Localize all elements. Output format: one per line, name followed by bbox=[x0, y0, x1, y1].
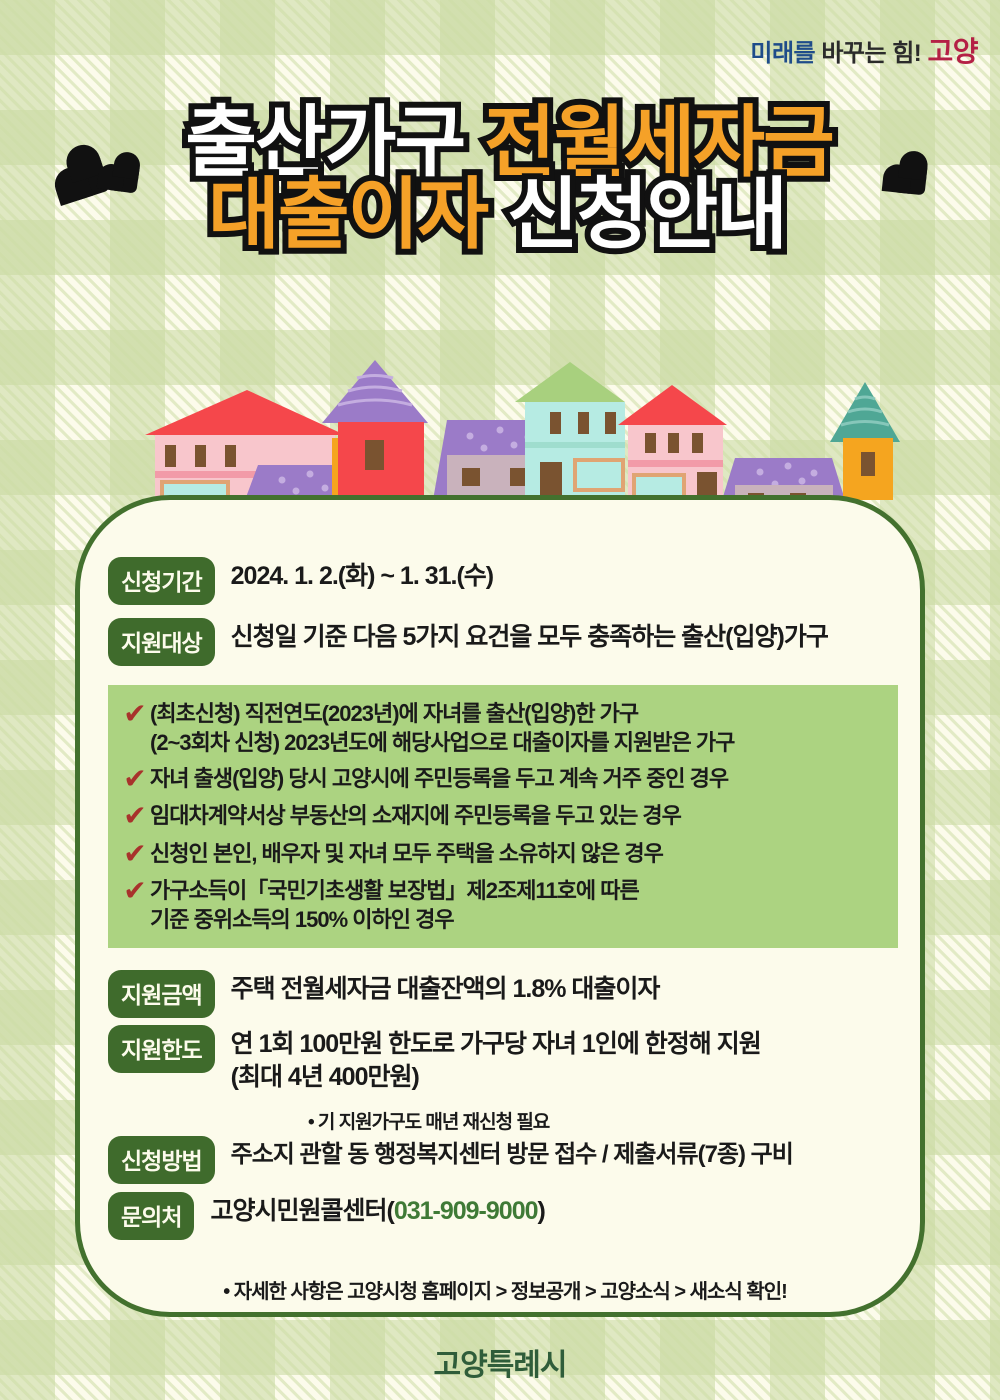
label-eligibility: 지원대상 bbox=[108, 618, 215, 666]
value-support-amount: 주택 전월세자금 대출잔액의 1.8% 대출이자 bbox=[231, 970, 660, 1006]
slogan-brand: 고양 bbox=[927, 36, 978, 67]
checklist-text: 임대차계약서상 부동산의 소재지에 주민등록을 두고 있는 경우 bbox=[150, 801, 681, 830]
checklist-item: ✔ (최초신청) 직전연도(2023년)에 자녀를 출산(입양)한 가구 (2~… bbox=[120, 699, 898, 757]
contact-phone[interactable]: 031-909-9000 bbox=[394, 1197, 538, 1225]
poster-title: 출산가구 전월세자금 대출이자 신청안내 bbox=[0, 104, 1000, 253]
card-footnote: • 자세한 사항은 고양시청 홈페이지 > 정보공개 > 고양소식 > 새소식 … bbox=[80, 1275, 930, 1304]
eligibility-checklist-box: ✔ (최초신청) 직전연도(2023년)에 자녀를 출산(입양)한 가구 (2~… bbox=[108, 685, 898, 948]
check-icon: ✔ bbox=[120, 764, 150, 794]
checklist-item: ✔ 자녀 출생(입양) 당시 고양시에 주민등록을 두고 계속 거주 중인 경우 bbox=[120, 764, 898, 794]
checklist-text: (최초신청) 직전연도(2023년)에 자녀를 출산(입양)한 가구 bbox=[150, 701, 638, 726]
title-line2-white: 신청안내 bbox=[507, 176, 786, 252]
label-application-method: 신청방법 bbox=[108, 1136, 215, 1184]
value-eligibility: 신청일 기준 다음 5가지 요건을 모두 충족하는 출산(입양)가구 bbox=[231, 618, 828, 654]
title-line1-white: 출산가구 bbox=[185, 104, 464, 180]
check-icon: ✔ bbox=[120, 699, 150, 729]
row-eligibility: 지원대상 신청일 기준 다음 5가지 요건을 모두 충족하는 출산(입양)가구 bbox=[108, 618, 828, 666]
check-icon: ✔ bbox=[120, 876, 150, 906]
checklist-item: ✔ 가구소득이「국민기초생활 보장법」제2조제11호에 따른 기준 중위소득의 … bbox=[120, 876, 898, 934]
house-roof bbox=[145, 390, 345, 435]
row-support-limit: 지원한도 연 1회 100만원 한도로 가구당 자녀 1인에 한정해 지원 (최… bbox=[108, 1025, 761, 1094]
village-illustration bbox=[0, 360, 1000, 500]
title-line1-orange: 전월세자금 bbox=[484, 104, 833, 180]
value-support-limit-line2: (최대 4년 400만원) bbox=[231, 1063, 419, 1091]
footer-brand: 고양특례시 bbox=[0, 1340, 1000, 1384]
checklist-text: 신청인 본인, 배우자 및 자녀 모두 주택을 소유하지 않은 경우 bbox=[150, 839, 663, 868]
row-contact: 문의처 고양시민원콜센터(031-909-9000) bbox=[108, 1192, 545, 1240]
checklist-item: ✔ 임대차계약서상 부동산의 소재지에 주민등록을 두고 있는 경우 bbox=[120, 801, 898, 831]
support-limit-note: • 기 지원가구도 매년 재신청 필요 bbox=[308, 1107, 549, 1134]
contact-name: 고양시민원콜센터( bbox=[210, 1197, 393, 1225]
checklist-text: 가구소득이「국민기초생활 보장법」제2조제11호에 따른 bbox=[150, 878, 639, 903]
info-card: 신청기간 2024. 1. 2.(화) ~ 1. 31.(수) 지원대상 신청일… bbox=[75, 495, 925, 1317]
row-support-amount: 지원금액 주택 전월세자금 대출잔액의 1.8% 대출이자 bbox=[108, 970, 659, 1018]
row-application-method: 신청방법 주소지 관할 동 행정복지센터 방문 접수 / 제출서류(7종) 구비 bbox=[108, 1136, 793, 1184]
label-application-period: 신청기간 bbox=[108, 557, 215, 605]
value-application-method: 주소지 관할 동 행정복지센터 방문 접수 / 제출서류(7종) 구비 bbox=[231, 1136, 793, 1171]
label-support-amount: 지원금액 bbox=[108, 970, 215, 1018]
check-icon: ✔ bbox=[120, 801, 150, 831]
value-contact: 고양시민원콜센터(031-909-9000) bbox=[210, 1192, 544, 1228]
slogan-part2: 바꾸는 힘! bbox=[821, 40, 921, 67]
village-svg bbox=[0, 360, 1000, 500]
slogan-part1: 미래를 bbox=[750, 40, 815, 67]
label-contact: 문의처 bbox=[108, 1192, 194, 1240]
value-support-limit-line1: 연 1회 100만원 한도로 가구당 자녀 1인에 한정해 지원 bbox=[231, 1030, 761, 1058]
label-support-limit: 지원한도 bbox=[108, 1025, 215, 1073]
header-slogan: 미래를 바꾸는 힘! 고양 bbox=[750, 30, 978, 70]
checklist-item: ✔ 신청인 본인, 배우자 및 자녀 모두 주택을 소유하지 않은 경우 bbox=[120, 839, 898, 869]
title-line2-orange: 대출이자 bbox=[208, 176, 487, 252]
contact-tail: ) bbox=[538, 1197, 545, 1225]
checklist-text: 기준 중위소득의 150% 이하인 경우 bbox=[150, 907, 454, 932]
checklist-text: (2~3회차 신청) 2023년도에 해당사업으로 대출이자를 지원받은 가구 bbox=[150, 730, 734, 755]
value-application-period: 2024. 1. 2.(화) ~ 1. 31.(수) bbox=[231, 557, 494, 593]
tree-icon bbox=[830, 382, 900, 442]
house-roof bbox=[618, 385, 727, 425]
checklist-text: 자녀 출생(입양) 당시 고양시에 주민등록을 두고 계속 거주 중인 경우 bbox=[150, 764, 728, 793]
check-icon: ✔ bbox=[120, 839, 150, 869]
house-roof bbox=[322, 360, 428, 423]
row-application-period: 신청기간 2024. 1. 2.(화) ~ 1. 31.(수) bbox=[108, 557, 493, 605]
house-roof bbox=[515, 362, 625, 402]
